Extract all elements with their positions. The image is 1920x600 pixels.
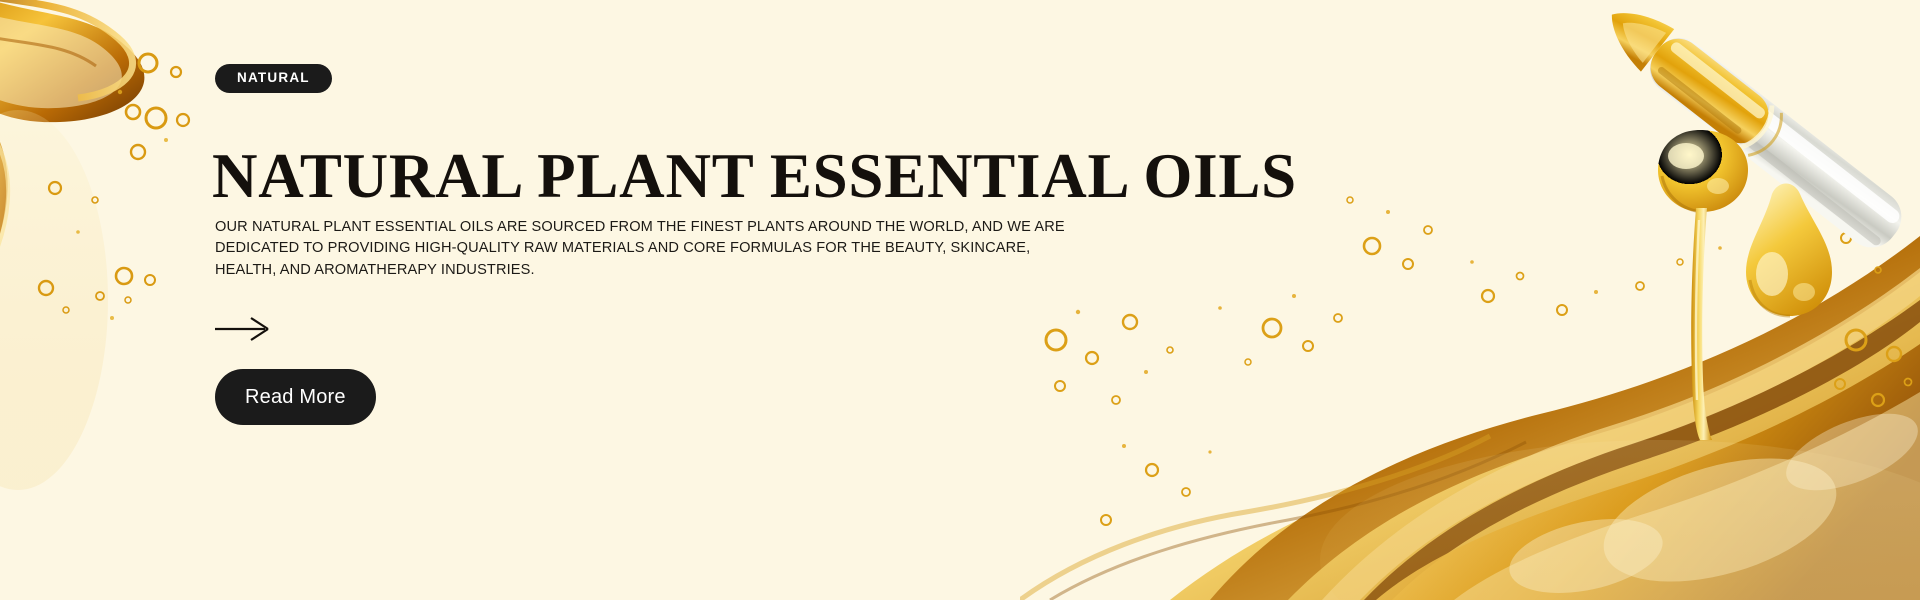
status-badge: NATURAL	[215, 64, 332, 93]
hero-content: NATURAL NATURAL PLANT ESSENTIAL OILS OUR…	[215, 0, 1155, 600]
page-title: NATURAL PLANT ESSENTIAL OILS	[212, 143, 1297, 209]
read-more-button[interactable]: Read More	[215, 369, 376, 425]
description-line-1: OUR NATURAL PLANT ESSENTIAL OILS ARE SOU…	[215, 217, 945, 238]
arrow-right-icon[interactable]	[215, 316, 275, 344]
glass-dropper-pipette-graphic	[1400, 0, 1920, 440]
oil-wave-graphic	[1020, 0, 1920, 600]
hero-description: OUR NATURAL PLANT ESSENTIAL OILS ARE SOU…	[215, 217, 945, 281]
description-line-2: DEDICATED TO PROVIDING HIGH-QUALITY RAW …	[215, 238, 945, 259]
hero-banner: NATURAL NATURAL PLANT ESSENTIAL OILS OUR…	[0, 0, 1920, 600]
description-line-3: HEALTH, AND AROMATHERAPY INDUSTRIES.	[215, 260, 945, 281]
